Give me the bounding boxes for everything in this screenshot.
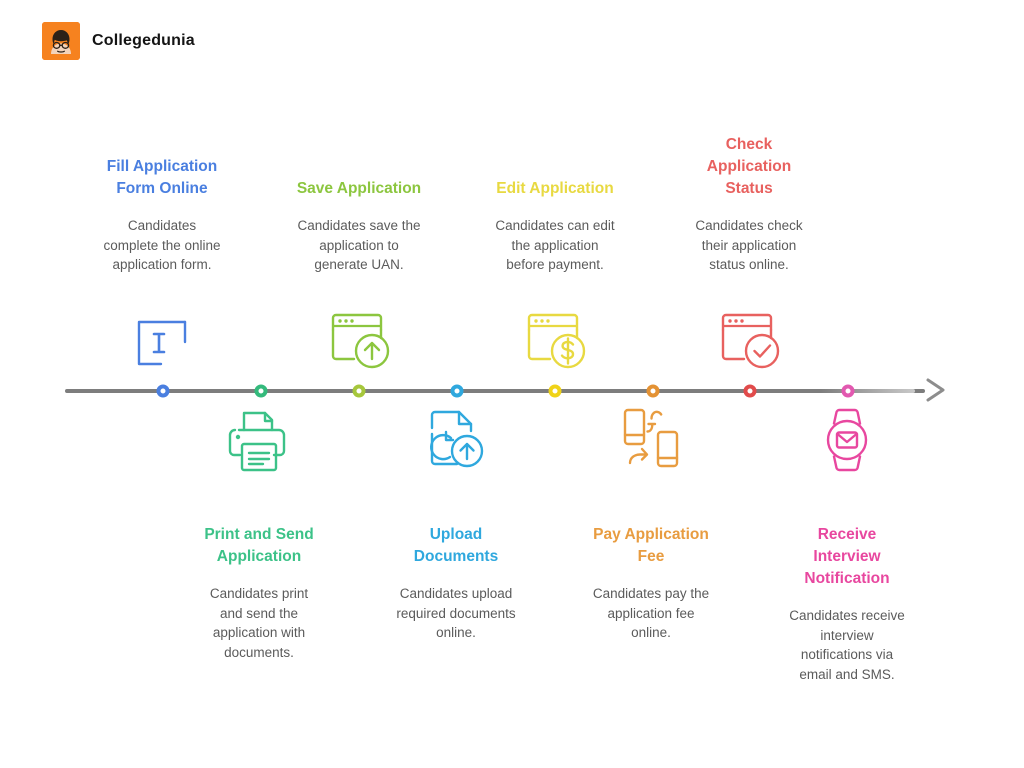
step-block-edit-application: Edit ApplicationCandidates can editthe a… <box>460 178 650 275</box>
step-block-save-application: Save ApplicationCandidates save theappli… <box>264 178 454 275</box>
step-description-edit-application: Candidates can editthe applicationbefore… <box>460 216 650 275</box>
step-block-pay-application-fee: Pay ApplicationFeeCandidates pay theappl… <box>556 524 746 643</box>
step-title-print-and-send-application: Print and SendApplication <box>164 524 354 568</box>
infographic-canvas: Collegedunia <box>0 0 1024 768</box>
step-title-upload-documents: UploadDocuments <box>361 524 551 568</box>
timeline-node-4[interactable] <box>451 385 464 398</box>
step-description-check-application-status: Candidates checktheir applicationstatus … <box>654 216 844 275</box>
collegedunia-mascot-icon <box>42 22 80 60</box>
timeline-node-5[interactable] <box>549 385 562 398</box>
browser-window-dollar-icon[interactable] <box>519 306 591 374</box>
mobile-money-transfer-icon[interactable] <box>615 406 687 470</box>
step-block-fill-application-form-online: Fill ApplicationForm OnlineCandidatescom… <box>67 156 257 275</box>
timeline-axis <box>65 389 925 393</box>
step-description-pay-application-fee: Candidates pay theapplication feeonline. <box>556 584 746 643</box>
smartwatch-mail-icon[interactable] <box>816 406 878 474</box>
timeline-node-1[interactable] <box>157 385 170 398</box>
browser-window-check-icon[interactable] <box>713 306 785 374</box>
printer-icon[interactable] <box>226 406 292 474</box>
step-block-print-and-send-application: Print and SendApplicationCandidates prin… <box>164 524 354 663</box>
step-block-receive-interview-notification: ReceiveInterviewNotificationCandidates r… <box>752 524 942 685</box>
timeline-node-7[interactable] <box>744 385 757 398</box>
step-description-receive-interview-notification: Candidates receiveinterviewnotifications… <box>752 606 942 685</box>
step-title-pay-application-fee: Pay ApplicationFee <box>556 524 746 568</box>
timeline-arrow-icon <box>925 377 949 408</box>
timeline-node-8[interactable] <box>842 385 855 398</box>
step-description-save-application: Candidates save theapplication togenerat… <box>264 216 454 275</box>
step-block-check-application-status: CheckApplicationStatusCandidates checkth… <box>654 134 844 275</box>
timeline-axis-fade <box>820 389 915 393</box>
browser-window-upload-icon[interactable] <box>323 306 395 374</box>
step-block-upload-documents: UploadDocumentsCandidates uploadrequired… <box>361 524 551 643</box>
timeline-node-3[interactable] <box>353 385 366 398</box>
document-clock-upload-icon[interactable] <box>422 406 490 474</box>
step-title-save-application: Save Application <box>264 178 454 200</box>
step-description-upload-documents: Candidates uploadrequired documentsonlin… <box>361 584 551 643</box>
step-title-fill-application-form-online: Fill ApplicationForm Online <box>67 156 257 200</box>
step-title-check-application-status: CheckApplicationStatus <box>654 134 844 200</box>
step-title-receive-interview-notification: ReceiveInterviewNotification <box>752 524 942 590</box>
step-description-fill-application-form-online: Candidatescomplete the onlineapplication… <box>67 216 257 275</box>
step-description-print-and-send-application: Candidates printand send theapplication … <box>164 584 354 663</box>
timeline-node-2[interactable] <box>255 385 268 398</box>
timeline-node-6[interactable] <box>647 385 660 398</box>
text-input-cursor-icon[interactable] <box>127 312 197 374</box>
brand-header: Collegedunia <box>42 22 195 60</box>
brand-name: Collegedunia <box>92 32 195 50</box>
step-title-edit-application: Edit Application <box>460 178 650 200</box>
